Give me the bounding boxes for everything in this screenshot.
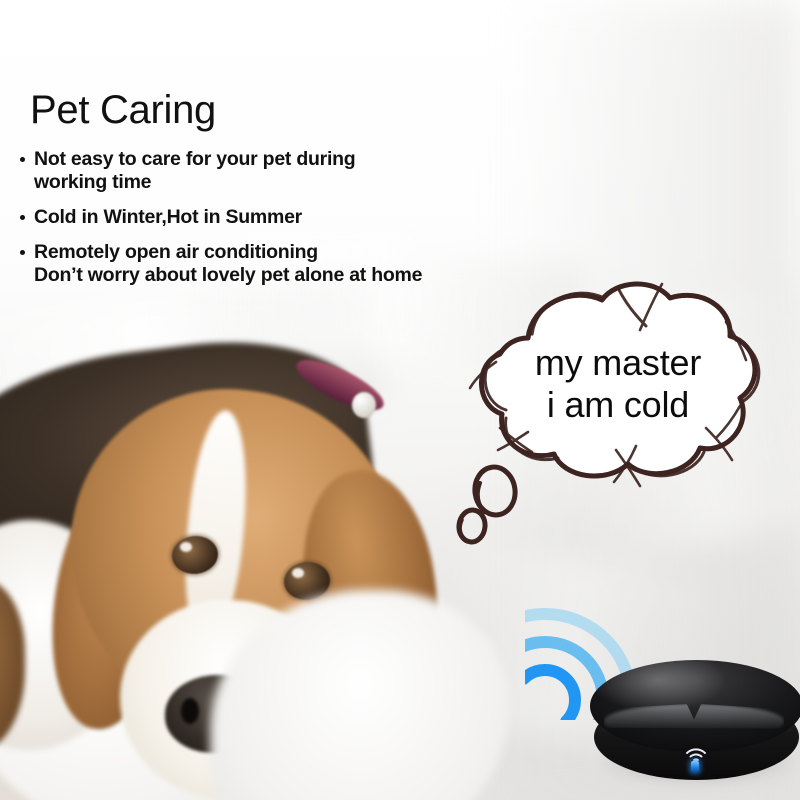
device-status-led — [691, 761, 699, 772]
thought-bubble-text: my master i am cold — [498, 342, 738, 427]
page-title: Pet Caring — [30, 90, 216, 130]
list-item: Cold in Winter,Hot in Summer — [16, 206, 496, 229]
dog-eye-glint — [292, 568, 304, 578]
thought-bubble: my master i am cold — [440, 278, 780, 548]
dog-eye-glint — [180, 542, 192, 552]
dog-nostril — [181, 698, 199, 724]
list-item: Not easy to care for your pet during wor… — [16, 148, 496, 194]
bullet-list: Not easy to care for your pet during wor… — [16, 148, 496, 299]
device-dome — [590, 660, 800, 752]
collar-tag — [352, 392, 376, 418]
smart-ir-remote-hub[interactable] — [590, 660, 800, 790]
slide-canvas: my master i am cold — [0, 0, 800, 800]
list-item: Remotely open air conditioning Don’t wor… — [16, 241, 496, 287]
dog-photo — [0, 330, 470, 800]
